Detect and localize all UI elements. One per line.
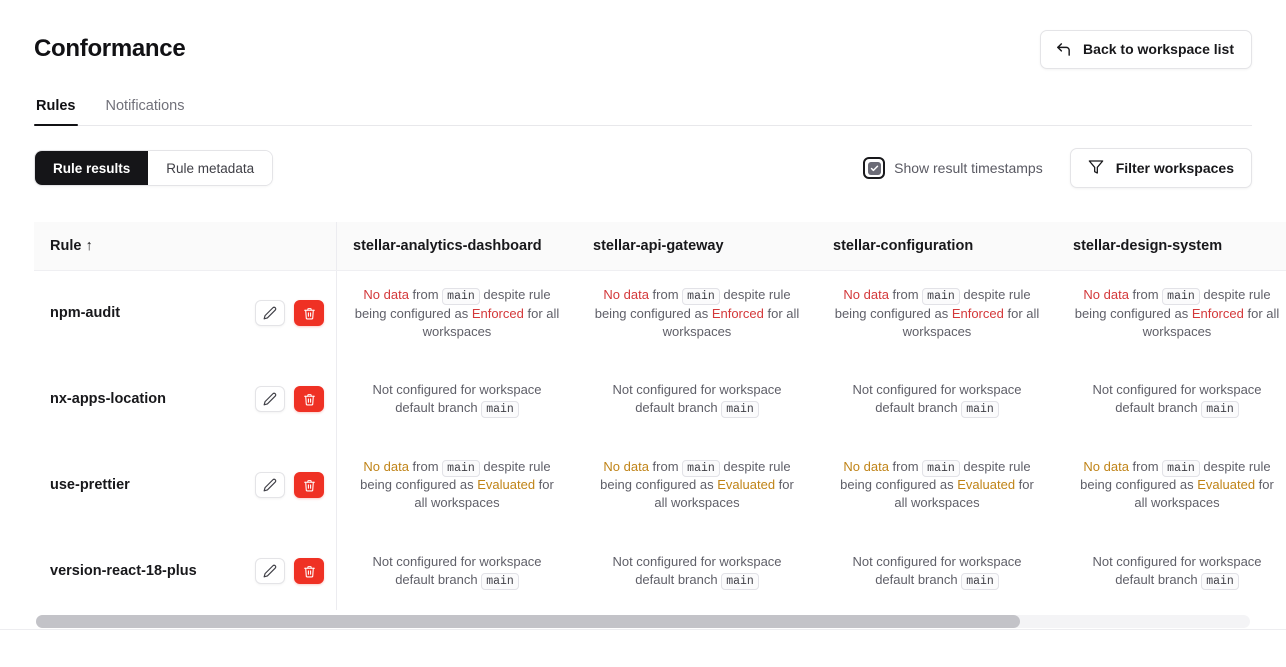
- rule-status-label: Evaluated: [957, 477, 1015, 492]
- checkbox-box: [868, 162, 881, 175]
- checkmark-icon: [870, 164, 879, 173]
- edit-rule-button[interactable]: [255, 472, 285, 498]
- no-data-label: No data: [603, 287, 649, 302]
- rule-status-label: Enforced: [952, 306, 1004, 321]
- cell-no-data: No data from main despite rule being con…: [835, 286, 1040, 341]
- cell-not-configured: Not configured for workspace default bra…: [1075, 553, 1280, 590]
- branch-badge: main: [1162, 288, 1200, 305]
- edit-rule-button[interactable]: [255, 558, 285, 584]
- result-cell: Not configured for workspace default bra…: [817, 528, 1057, 610]
- column-header-workspace-1[interactable]: stellar-api-gateway: [577, 222, 817, 270]
- cell-not-configured: Not configured for workspace default bra…: [1075, 381, 1280, 418]
- branch-badge: main: [1201, 401, 1239, 418]
- table-row: version-react-18-plusNot configured for …: [34, 528, 1286, 610]
- tabs: Rules Notifications: [34, 94, 1252, 126]
- no-data-label: No data: [843, 287, 889, 302]
- branch-badge: main: [1201, 573, 1239, 590]
- bottom-divider: [0, 629, 1286, 630]
- toolbar-right: Show result timestamps Filter workspaces: [863, 148, 1252, 188]
- trash-icon: [303, 479, 316, 492]
- rule-status-label: Enforced: [1192, 306, 1244, 321]
- cell-not-configured: Not configured for workspace default bra…: [835, 381, 1040, 418]
- tabs-container: Rules Notifications: [0, 94, 1286, 126]
- rule-actions: [255, 472, 324, 498]
- branch-badge: main: [922, 460, 960, 477]
- trash-icon: [303, 565, 316, 578]
- result-cell: No data from main despite rule being con…: [337, 442, 577, 528]
- table-row: use-prettierNo data from main despite ru…: [34, 442, 1286, 528]
- view-segmented-control: Rule results Rule metadata: [34, 150, 273, 186]
- rule-status-label: Evaluated: [477, 477, 535, 492]
- rule-name: npm-audit: [50, 303, 120, 323]
- rule-status-label: Evaluated: [717, 477, 775, 492]
- result-cell: Not configured for workspace default bra…: [577, 356, 817, 442]
- result-cell: No data from main despite rule being con…: [337, 270, 577, 356]
- table-header-row: Rule ↑ stellar-analytics-dashboard stell…: [34, 222, 1286, 270]
- cell-not-configured: Not configured for workspace default bra…: [355, 553, 560, 590]
- filter-funnel-icon: [1088, 159, 1104, 177]
- no-data-label: No data: [363, 287, 409, 302]
- branch-badge: main: [481, 401, 519, 418]
- rule-status-label: Enforced: [472, 306, 524, 321]
- table-row: nx-apps-locationNot configured for works…: [34, 356, 1286, 442]
- no-data-label: No data: [843, 459, 889, 474]
- cell-no-data: No data from main despite rule being con…: [1075, 286, 1280, 341]
- rule-name: version-react-18-plus: [50, 561, 197, 581]
- rules-table: Rule ↑ stellar-analytics-dashboard stell…: [34, 222, 1286, 610]
- rule-actions: [255, 300, 324, 326]
- branch-badge: main: [1162, 460, 1200, 477]
- result-cell: No data from main despite rule being con…: [577, 270, 817, 356]
- result-cell: No data from main despite rule being con…: [577, 442, 817, 528]
- conformance-page: Conformance Back to workspace list Rules…: [0, 0, 1286, 667]
- pencil-icon: [263, 392, 277, 406]
- branch-badge: main: [442, 460, 480, 477]
- delete-rule-button[interactable]: [294, 386, 324, 412]
- page-title: Conformance: [34, 35, 185, 63]
- branch-badge: main: [682, 460, 720, 477]
- result-cell: No data from main despite rule being con…: [1057, 270, 1286, 356]
- result-cell: Not configured for workspace default bra…: [337, 528, 577, 610]
- cell-no-data: No data from main despite rule being con…: [835, 458, 1040, 513]
- cell-no-data: No data from main despite rule being con…: [1075, 458, 1280, 513]
- delete-rule-button[interactable]: [294, 472, 324, 498]
- cell-not-configured: Not configured for workspace default bra…: [835, 553, 1040, 590]
- page-header: Conformance Back to workspace list: [0, 0, 1286, 76]
- tab-notifications[interactable]: Notifications: [104, 94, 187, 125]
- result-cell: No data from main despite rule being con…: [817, 442, 1057, 528]
- result-cell: Not configured for workspace default bra…: [577, 528, 817, 610]
- rule-cell: version-react-18-plus: [34, 528, 336, 610]
- checkbox-focus-ring: [863, 157, 885, 179]
- back-to-workspace-list-button[interactable]: Back to workspace list: [1040, 30, 1252, 69]
- result-cell: No data from main despite rule being con…: [817, 270, 1057, 356]
- edit-rule-button[interactable]: [255, 386, 285, 412]
- result-cell: Not configured for workspace default bra…: [337, 356, 577, 442]
- no-data-label: No data: [603, 459, 649, 474]
- pencil-icon: [263, 564, 277, 578]
- trash-icon: [303, 307, 316, 320]
- branch-badge: main: [682, 288, 720, 305]
- no-data-label: No data: [363, 459, 409, 474]
- cell-no-data: No data from main despite rule being con…: [355, 286, 560, 341]
- no-data-label: No data: [1083, 459, 1129, 474]
- rules-table-scroll-region[interactable]: Rule ↑ stellar-analytics-dashboard stell…: [34, 222, 1286, 610]
- no-data-label: No data: [1083, 287, 1129, 302]
- branch-badge: main: [442, 288, 480, 305]
- branch-badge: main: [922, 288, 960, 305]
- rule-name: nx-apps-location: [50, 389, 166, 409]
- column-header-workspace-2[interactable]: stellar-configuration: [817, 222, 1057, 270]
- cell-not-configured: Not configured for workspace default bra…: [595, 381, 800, 418]
- segment-rule-results[interactable]: Rule results: [35, 151, 148, 185]
- rule-name: use-prettier: [50, 475, 130, 495]
- branch-badge: main: [481, 573, 519, 590]
- edit-rule-button[interactable]: [255, 300, 285, 326]
- pencil-icon: [263, 478, 277, 492]
- rule-cell: nx-apps-location: [34, 356, 336, 442]
- table-body: npm-auditNo data from main despite rule …: [34, 270, 1286, 610]
- pencil-icon: [263, 306, 277, 320]
- checkbox-label: Show result timestamps: [894, 160, 1043, 176]
- delete-rule-button[interactable]: [294, 558, 324, 584]
- rule-cell: use-prettier: [34, 442, 336, 528]
- horizontal-scrollbar-thumb[interactable]: [36, 615, 1020, 628]
- cell-no-data: No data from main despite rule being con…: [595, 458, 800, 513]
- filter-workspaces-button[interactable]: Filter workspaces: [1070, 148, 1252, 188]
- branch-badge: main: [721, 573, 759, 590]
- result-cell: Not configured for workspace default bra…: [1057, 528, 1286, 610]
- result-cell: Not configured for workspace default bra…: [1057, 356, 1286, 442]
- cell-not-configured: Not configured for workspace default bra…: [355, 381, 560, 418]
- back-arrow-icon: [1055, 41, 1072, 58]
- cell-no-data: No data from main despite rule being con…: [355, 458, 560, 513]
- rule-actions: [255, 386, 324, 412]
- rule-status-label: Evaluated: [1197, 477, 1255, 492]
- show-result-timestamps-checkbox[interactable]: Show result timestamps: [863, 157, 1043, 179]
- delete-rule-button[interactable]: [294, 300, 324, 326]
- cell-not-configured: Not configured for workspace default bra…: [595, 553, 800, 590]
- rule-actions: [255, 558, 324, 584]
- column-header-rule[interactable]: Rule ↑: [34, 222, 336, 270]
- horizontal-scrollbar-track[interactable]: [36, 615, 1250, 628]
- toolbar: Rule results Rule metadata Show result t…: [0, 149, 1286, 187]
- result-cell: Not configured for workspace default bra…: [817, 356, 1057, 442]
- branch-badge: main: [961, 573, 999, 590]
- back-button-label: Back to workspace list: [1083, 42, 1234, 56]
- segment-rule-metadata[interactable]: Rule metadata: [148, 151, 272, 185]
- table-row: npm-auditNo data from main despite rule …: [34, 270, 1286, 356]
- rule-cell: npm-audit: [34, 270, 336, 356]
- column-header-workspace-3[interactable]: stellar-design-system: [1057, 222, 1286, 270]
- table-head: Rule ↑ stellar-analytics-dashboard stell…: [34, 222, 1286, 270]
- rule-status-label: Enforced: [712, 306, 764, 321]
- branch-badge: main: [961, 401, 999, 418]
- filter-button-label: Filter workspaces: [1116, 161, 1234, 175]
- tab-rules[interactable]: Rules: [34, 94, 78, 125]
- result-cell: No data from main despite rule being con…: [1057, 442, 1286, 528]
- column-header-workspace-0[interactable]: stellar-analytics-dashboard: [337, 222, 577, 270]
- trash-icon: [303, 393, 316, 406]
- cell-no-data: No data from main despite rule being con…: [595, 286, 800, 341]
- branch-badge: main: [721, 401, 759, 418]
